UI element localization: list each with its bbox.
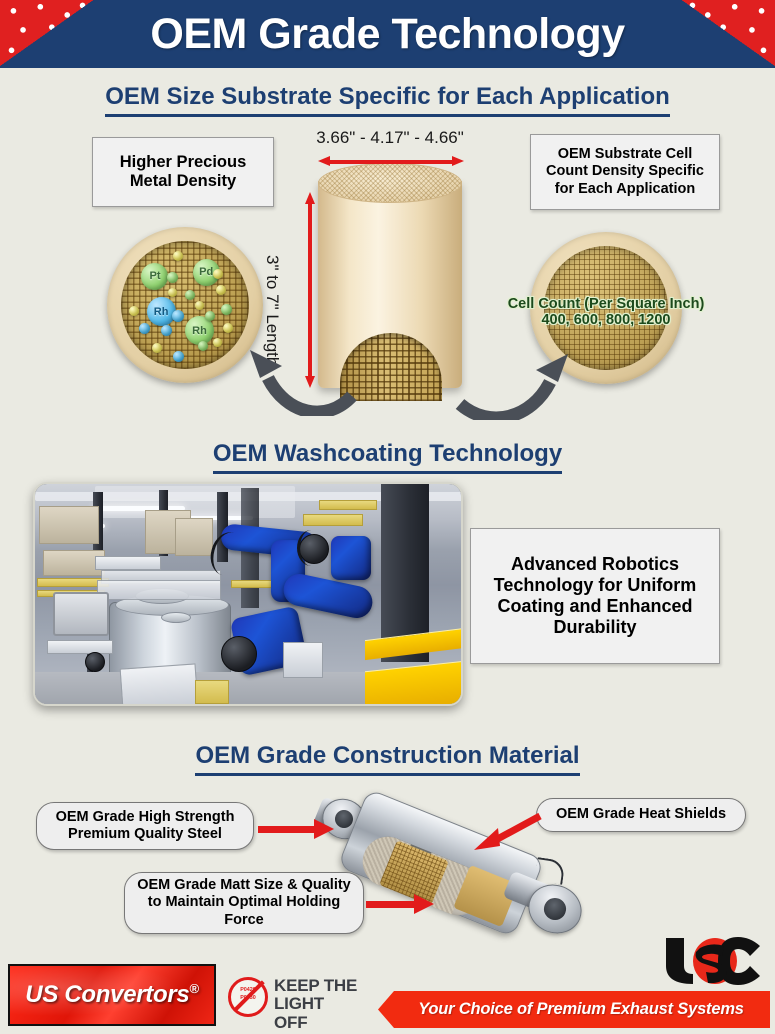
metal-dot (223, 323, 233, 333)
callout-higher-precious-metal-density-text: Higher Precious Metal Density (101, 153, 265, 192)
metal-dot (216, 285, 226, 295)
metal-dot (161, 325, 172, 336)
keep-the-light-off-text: KEEP THE LIGHT OFF (274, 977, 358, 1032)
no-check-engine-light-icon: P0420 P0430 (228, 977, 268, 1017)
section-heading-substrate-text: OEM Size Substrate Specific for Each App… (105, 83, 670, 117)
metal-dot (139, 323, 150, 334)
metal-dot (152, 343, 162, 353)
keep-line-2: LIGHT OFF (274, 995, 358, 1032)
callout-matt-size: OEM Grade Matt Size & Quality to Maintai… (124, 872, 364, 934)
cell-count-label: Cell Count (Per Square Inch) 400, 600, 8… (498, 296, 714, 328)
metal-dot (221, 304, 232, 315)
infographic-page: OEM Grade Technology OEM Size Substrate … (0, 0, 775, 1034)
metal-dot (213, 338, 222, 347)
metal-dot (172, 310, 184, 322)
callout-cell-count-density: OEM Substrate Cell Count Density Specifi… (530, 134, 720, 210)
page-title: OEM Grade Technology (0, 0, 775, 68)
callout-heat-shields-text: OEM Grade Heat Shields (556, 806, 726, 823)
metal-dot (173, 351, 184, 362)
footer-tagline-text: Your Choice of Premium Exhaust Systems (404, 1000, 744, 1019)
footer-tagline-banner: Your Choice of Premium Exhaust Systems (378, 991, 770, 1028)
usc-logo-icon (660, 936, 764, 986)
callout-heat-shields: OEM Grade Heat Shields (536, 798, 746, 832)
callout-high-strength-steel: OEM Grade High Strength Premium Quality … (36, 802, 254, 850)
metal-dot (213, 269, 223, 279)
metal-dot (185, 290, 195, 300)
callout-matt-size-text: OEM Grade Matt Size & Quality to Maintai… (133, 877, 355, 929)
callout-higher-precious-metal-density: Higher Precious Metal Density (92, 137, 274, 207)
metal-dot (167, 272, 178, 283)
section-heading-washcoating-text: OEM Washcoating Technology (213, 440, 562, 474)
callout-high-strength-steel-text: OEM Grade High Strength Premium Quality … (45, 809, 245, 844)
page-header: OEM Grade Technology (0, 0, 775, 68)
keep-line-1: KEEP THE (274, 977, 358, 995)
diameter-label: 3.66" - 4.17" - 4.66" (290, 128, 490, 148)
section-heading-construction-text: OEM Grade Construction Material (195, 742, 579, 776)
section-heading-substrate: OEM Size Substrate Specific for Each App… (0, 83, 775, 117)
arrow-to-heat-shields-icon (472, 812, 544, 852)
curved-arrow-left-icon (240, 330, 360, 416)
cell-count-title: Cell Count (Per Square Inch) (498, 296, 714, 312)
keep-the-light-off-badge: P0420 P0430 KEEP THE LIGHT OFF (228, 975, 358, 1019)
us-convertors-logo: US Convertors® (8, 964, 216, 1026)
honeycomb-grid-left: Pt Pd Rh Rh (121, 241, 249, 369)
callout-advanced-robotics: Advanced Robotics Technology for Uniform… (470, 528, 720, 664)
cylinder-top-face (318, 163, 462, 203)
cell-count-values: 400, 600, 800, 1200 (498, 312, 714, 328)
metal-sphere-rh-blue: Rh (147, 297, 176, 326)
diameter-arrow-icon (318, 156, 464, 166)
metal-dot (173, 251, 183, 261)
section-heading-construction: OEM Grade Construction Material (0, 742, 775, 776)
metal-dot (129, 306, 139, 316)
metal-dot (195, 301, 204, 310)
metal-dot (168, 288, 177, 297)
metal-dot (198, 341, 208, 351)
us-convertors-logo-text: US Convertors® (25, 981, 198, 1009)
section-heading-washcoating: OEM Washcoating Technology (0, 440, 775, 474)
robotics-photo (33, 482, 463, 706)
metal-dot (205, 311, 215, 321)
metal-sphere-pt: Pt (141, 263, 168, 290)
curved-arrow-right-icon (452, 334, 578, 420)
callout-cell-count-density-text: OEM Substrate Cell Count Density Specifi… (539, 146, 711, 197)
callout-advanced-robotics-text: Advanced Robotics Technology for Uniform… (481, 554, 709, 639)
